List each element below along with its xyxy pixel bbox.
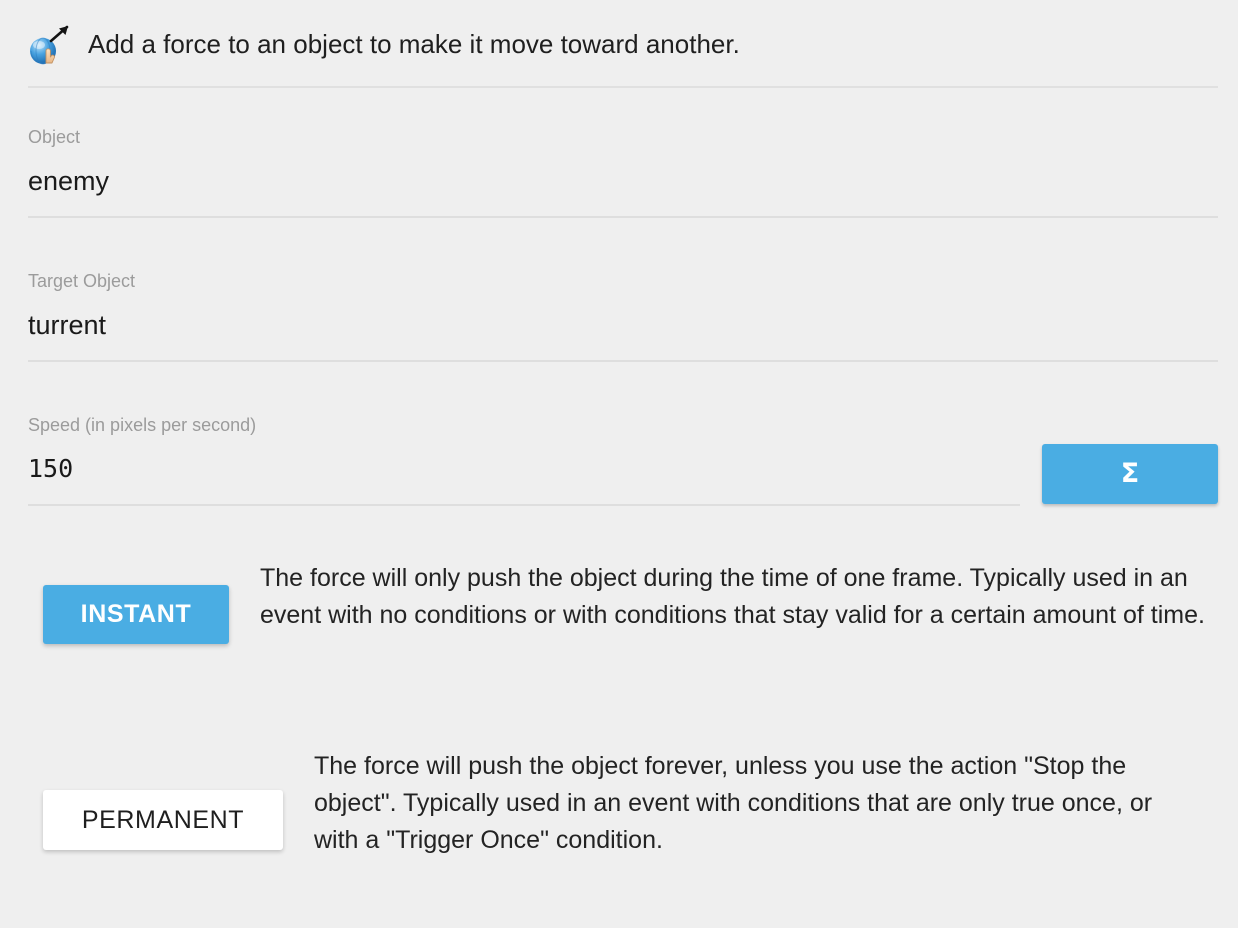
action-parameters-panel: Add a force to an object to make it move… (0, 0, 1238, 928)
mode-instant-description: The force will only push the object duri… (260, 560, 1205, 634)
force-toward-object-icon (26, 22, 72, 68)
field-speed-underline (28, 504, 1020, 506)
field-speed[interactable]: Speed (in pixels per second) 150 (28, 414, 256, 486)
field-object-label: Object (28, 126, 109, 148)
field-target-object-label: Target Object (28, 270, 135, 292)
expression-editor-button[interactable]: Σ (1042, 444, 1218, 504)
panel-header: Add a force to an object to make it move… (0, 0, 1238, 87)
field-target-object-underline (28, 360, 1218, 362)
field-target-object[interactable]: Target Object turrent (28, 270, 135, 342)
field-object-value[interactable]: enemy (28, 164, 109, 198)
field-target-object-value[interactable]: turrent (28, 308, 135, 342)
field-object[interactable]: Object enemy (28, 126, 109, 198)
field-speed-value[interactable]: 150 (28, 452, 256, 486)
mode-instant-button[interactable]: INSTANT (43, 585, 229, 644)
sigma-icon: Σ (1121, 458, 1139, 489)
mode-permanent-button[interactable]: PERMANENT (43, 790, 283, 850)
field-object-underline (28, 216, 1218, 218)
header-divider (28, 86, 1218, 88)
mode-permanent-description: The force will push the object forever, … (314, 748, 1194, 859)
page-title: Add a force to an object to make it move… (88, 29, 740, 59)
field-speed-label: Speed (in pixels per second) (28, 414, 256, 436)
